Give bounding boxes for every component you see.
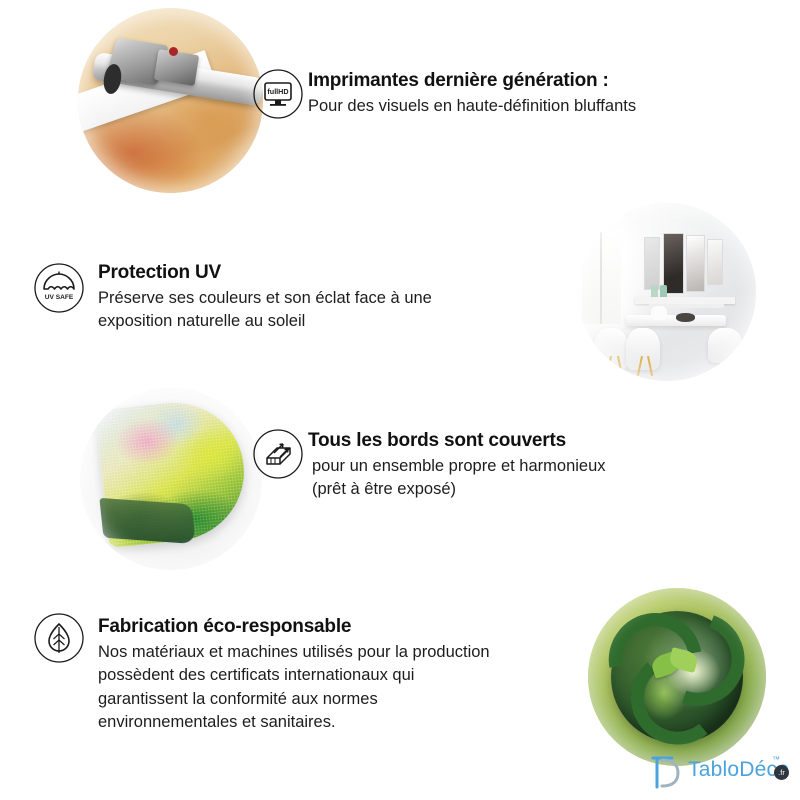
canvas-wrapped-edge: [99, 498, 195, 544]
canvas-corner-photo: [80, 388, 262, 570]
feature-body-line: Préserve ses couleurs et son éclat face …: [98, 287, 432, 310]
printer-indicator-dot: [169, 47, 178, 56]
feature-title: Imprimantes dernière génération :: [308, 70, 636, 92]
dining-chair: [626, 328, 660, 371]
uv-safe-umbrella-icon: UV SAFE: [33, 262, 85, 314]
feature-title: Fabrication éco-responsable: [98, 616, 490, 638]
tablodeco-logo[interactable]: TabloDéco ™ .fr: [648, 752, 793, 794]
wrapped-canvas-edge-icon: [252, 428, 304, 480]
feature-body-line: possèdent des certificats internationaux…: [98, 664, 490, 687]
trademark-icon: ™: [772, 755, 780, 764]
domain-badge: .fr: [774, 765, 789, 780]
leaf-icon: [33, 612, 85, 664]
large-format-printer-photo: [78, 8, 263, 193]
feature-block-covered-edges: Tous les bords sont couverts pour un ens…: [308, 430, 606, 502]
feature-body-line: garantissent la conformité aux normes: [98, 688, 490, 711]
feature-title: Tous les bords sont couverts: [308, 430, 606, 452]
dining-chair: [594, 328, 628, 371]
svg-text:fullHD: fullHD: [267, 87, 288, 96]
teapot: [651, 306, 667, 320]
wall-art-panel: [644, 237, 660, 290]
bright-dining-room-photo: [578, 203, 756, 381]
feature-body-line: Nos matériaux et machines utilisés pour …: [98, 641, 490, 664]
room-window: [582, 231, 621, 324]
feature-block-print-quality: Imprimantes dernière génération : Pour d…: [308, 70, 636, 118]
wall-art-panel: [707, 239, 723, 285]
feature-title: Protection UV: [98, 262, 432, 284]
fullhd-monitor-icon: fullHD: [252, 68, 304, 120]
svg-text:UV SAFE: UV SAFE: [45, 294, 74, 301]
feature-body-line: pour un ensemble propre et harmonieux: [312, 455, 606, 478]
feature-body-line: Pour des visuels en haute-définition blu…: [308, 95, 636, 118]
tablodeco-monogram: [648, 754, 684, 790]
wall-art-panel: [686, 235, 706, 292]
feature-body-line: exposition naturelle au soleil: [98, 310, 432, 333]
dining-chair: [708, 328, 742, 364]
eco-globe-photo: [588, 588, 766, 766]
feature-body-line: environnementales et sanitaires.: [98, 711, 490, 734]
feature-body-line: (prêt à être exposé): [312, 478, 606, 501]
feature-block-uv-protection: Protection UV Préserve ses couleurs et s…: [98, 262, 432, 334]
feature-block-eco-manufacturing: Fabrication éco-responsable Nos matériau…: [98, 616, 490, 735]
infographic-page: fullHD Imprimantes dernière génération :…: [0, 0, 800, 800]
